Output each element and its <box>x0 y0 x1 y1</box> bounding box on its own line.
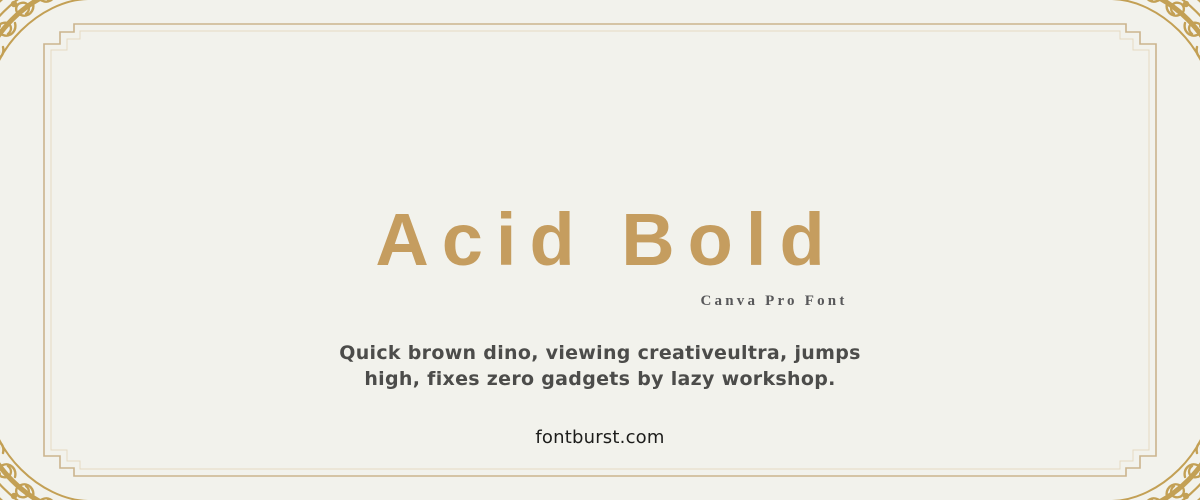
font-source-label: Canva Pro Font <box>700 293 847 309</box>
website-block: fontburst.com <box>0 427 1200 448</box>
font-preview-poster: Acid Bold Canva Pro Font Quick brown din… <box>0 0 1200 500</box>
font-title-block: Acid Bold <box>0 203 1200 277</box>
website-url[interactable]: fontburst.com <box>535 427 664 448</box>
poster-content: Acid Bold Canva Pro Font Quick brown din… <box>0 0 1200 500</box>
sample-text-block: Quick brown dino, viewing creativeultra,… <box>0 340 1200 392</box>
font-name-title: Acid Bold <box>0 203 1200 277</box>
font-source-row: Canva Pro Font <box>0 292 1200 310</box>
sample-text-line-2: high, fixes zero gadgets by lazy worksho… <box>0 366 1200 392</box>
font-source-inner: Canva Pro Font <box>352 292 847 310</box>
sample-text-line-1: Quick brown dino, viewing creativeultra,… <box>0 340 1200 366</box>
